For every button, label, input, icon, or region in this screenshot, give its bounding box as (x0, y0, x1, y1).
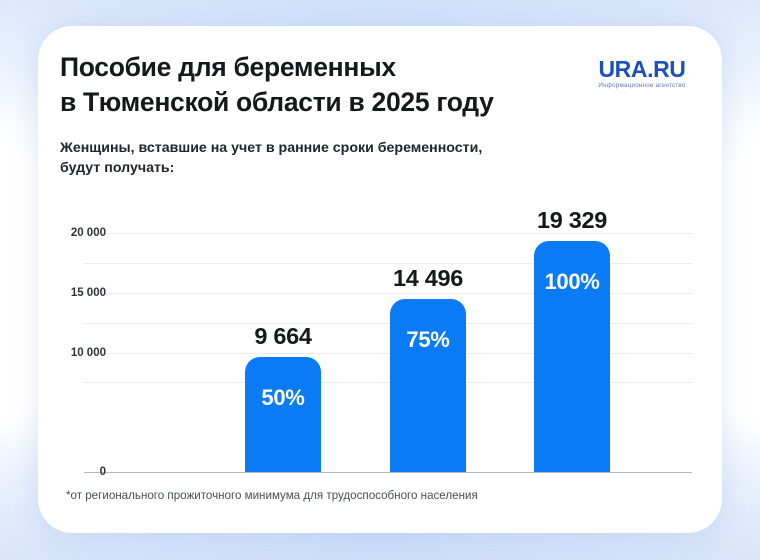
ura-ru-logo[interactable]: URA.RU Информационное агентство (588, 58, 696, 89)
bar-chart: 010 00015 00020 00050%9 66475%14 496100%… (38, 191, 722, 481)
logo-tagline: Информационное агентство (588, 83, 696, 89)
y-axis-tick-label: 20 000 (38, 227, 106, 239)
bar-value-label: 9 664 (254, 323, 311, 350)
y-axis-tick-label: 15 000 (38, 287, 106, 299)
bar-percent-label: 50% (245, 385, 321, 411)
bar-value-label: 14 496 (393, 265, 463, 292)
bar: 50% (245, 357, 321, 472)
bar-percent-label: 100% (534, 269, 610, 295)
axis-baseline (84, 472, 692, 473)
footnote: *от регионального прожиточного минимума … (66, 488, 686, 503)
page-title: Пособие для беременных в Тюменской облас… (60, 50, 530, 119)
bar: 100% (534, 241, 610, 472)
logo-wordmark: URA.RU (588, 58, 696, 81)
y-axis-tick-label: 0 (38, 466, 106, 478)
infographic-card: Пособие для беременных в Тюменской облас… (38, 26, 722, 533)
bar-value-label: 19 329 (537, 207, 607, 234)
infographic-canvas: Пособие для беременных в Тюменской облас… (0, 0, 760, 560)
y-axis-tick-label: 10 000 (38, 347, 106, 359)
page-subtitle: Женщины, вставшие на учет в ранние сроки… (60, 138, 580, 178)
bar: 75% (390, 299, 466, 472)
bar-percent-label: 75% (390, 327, 466, 353)
